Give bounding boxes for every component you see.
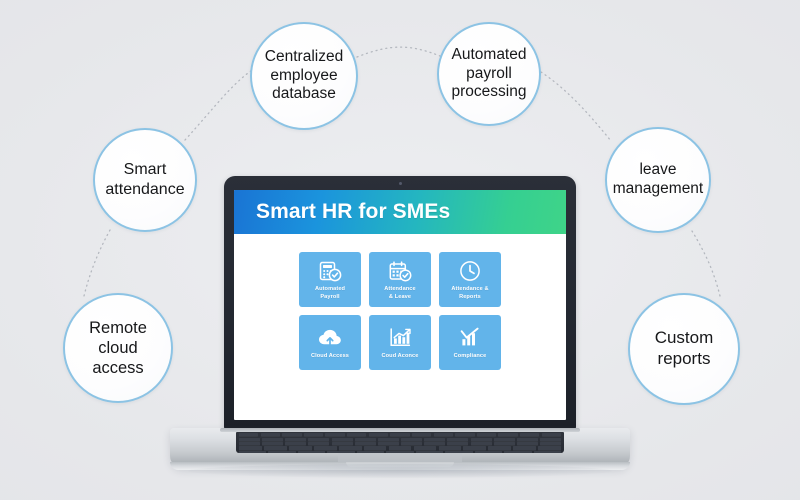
calculator-check-icon [319,259,342,283]
connector-smart-to-remote [84,230,110,296]
screen-title: Smart HR for SMEs [256,200,450,224]
connector-smart-to-centralized [185,70,252,140]
bar-chart-check-icon [459,326,482,350]
tile-cloud-access[interactable]: Cloud Access [299,315,361,370]
clock-icon [459,259,481,283]
connector-payroll-to-leave [541,72,611,141]
bar-chart-line-icon [389,326,412,350]
tile-label: Cloud Access [311,353,349,360]
tile-label: Compliance [454,353,487,360]
laptop-keyboard[interactable] [236,432,564,453]
keyboard-row [236,445,564,449]
keyboard-row [236,432,564,436]
bubble-label: Centralized employee database [259,48,349,105]
connector-centralized-to-payroll [357,47,440,57]
tile-coud-aconce[interactable]: Coud Aconce [369,315,431,370]
laptop-mockup: Smart HR for SMEs [170,176,630,484]
bubble-remote-cloud-access[interactable]: Remote cloud access [63,293,173,403]
tile-compliance[interactable]: Compliance [439,315,501,370]
cloud-upload-icon [318,326,342,350]
tile-attendance-leave[interactable]: Attendance & Leave [369,252,431,307]
bubble-centralized-employee-database[interactable]: Centralized employee database [250,22,358,130]
bubble-automated-payroll-processing[interactable]: Automated payroll processing [437,22,541,126]
feature-tile-grid: Automated Payroll [234,234,566,370]
connector-leave-to-custom [692,231,720,296]
screen-header: Smart HR for SMEs [234,190,566,234]
bubble-label: Automated payroll processing [446,46,533,103]
tile-label: Automated Payroll [315,286,345,301]
bubble-custom-reports[interactable]: Custom reports [628,293,740,405]
laptop-base [170,428,630,468]
tile-automated-payroll[interactable]: Automated Payroll [299,252,361,307]
calendar-check-icon [389,259,412,283]
laptop-lid: Smart HR for SMEs [224,176,576,430]
bubble-label: Custom reports [649,328,720,369]
bubble-label: Remote cloud access [83,318,153,378]
webcam-icon [399,182,402,185]
tile-label: Attendance & Reports [451,286,488,301]
laptop-screen: Smart HR for SMEs [234,190,566,420]
tile-label: Attendance & Leave [384,286,415,301]
tile-attendance-reports[interactable]: Attendance & Reports [439,252,501,307]
tile-label: Coud Aconce [382,353,419,360]
laptop-shadow [188,464,612,478]
infographic-canvas: Centralized employee database Automated … [0,0,800,500]
